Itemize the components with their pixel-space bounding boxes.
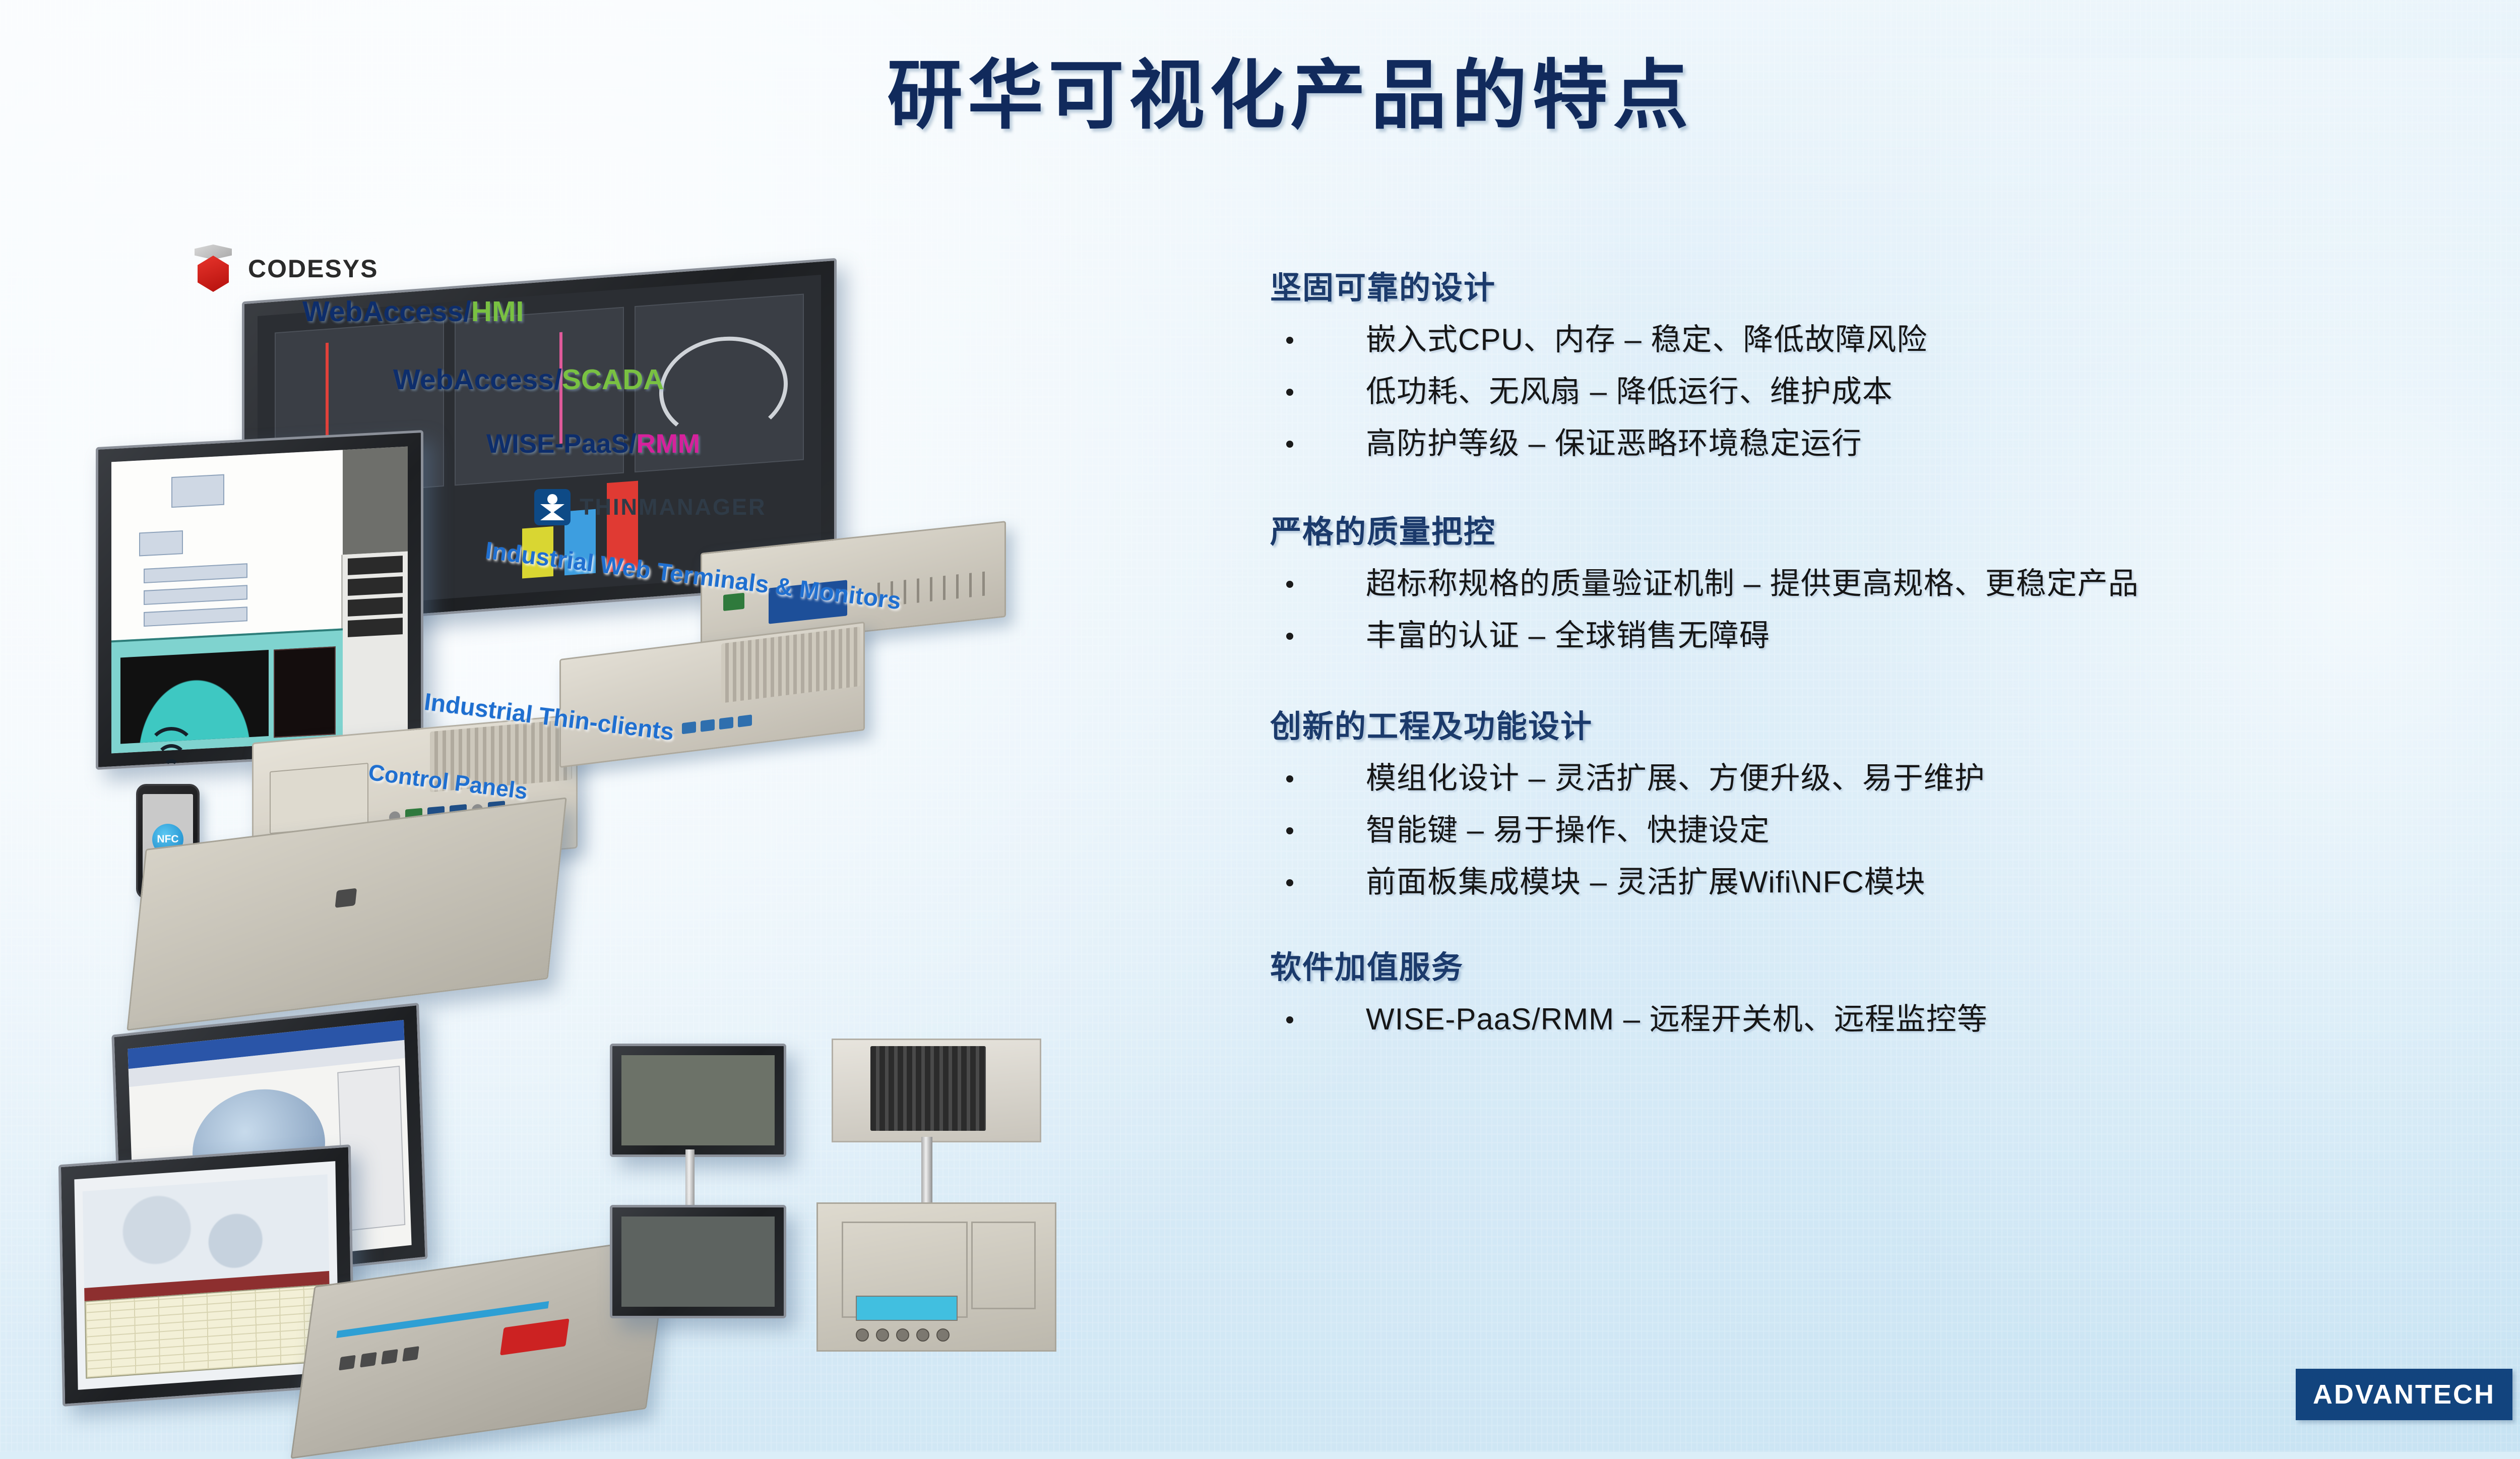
bullet-dot-icon (1286, 827, 1293, 834)
section-software-value-added: 软件加值服务 WISE-PaaS/RMM – 远程开关机、远程监控等 (1270, 942, 2520, 1039)
bullet-dot-icon (1286, 389, 1293, 396)
webaccess-hmi-prefix: WebAccess/ (302, 295, 471, 328)
bullet-text: 前面板集成模块 – 灵活扩展Wifi\NFC模块 (1366, 863, 1926, 902)
web-terminal-front-image-2 (610, 1205, 786, 1318)
label-wise-paas-rmm: WISE-PaaS/RMM (486, 429, 700, 459)
io-ports (682, 715, 752, 735)
bullet-text: 丰富的认证 – 全球销售无障碍 (1366, 617, 1770, 655)
section-innovative-engineering: 创新的工程及功能设计 模组化设计 – 灵活扩展、方便升级、易于维护 智能键 – … (1270, 701, 2520, 901)
thin-client-fanless-image (559, 622, 865, 768)
bullet-text: 高防护等级 – 保证恶略环境稳定运行 (1366, 424, 1862, 463)
codesys-cube-icon (192, 245, 235, 293)
codesys-logo: CODESYS (192, 245, 379, 293)
webaccess-scada-prefix: WebAccess/ (393, 363, 562, 396)
bullet-text: WISE-PaaS/RMM – 远程开关机、远程监控等 (1366, 1000, 1988, 1039)
page-title: 研华可视化产品的特点 (0, 34, 2520, 144)
product-artwork: NFC (0, 166, 1174, 1386)
bullet-text: 超标称规格的质量验证机制 – 提供更高规格、更稳定产品 (1366, 565, 2139, 603)
list-item: 前面板集成模块 – 灵活扩展Wifi\NFC模块 (1270, 863, 2520, 902)
label-webaccess-scada: WebAccess/SCADA (393, 363, 664, 396)
section-rugged-design: 坚固可靠的设计 嵌入式CPU、内存 – 稳定、降低故障风险 低功耗、无风扇 – … (1270, 262, 2520, 463)
bullet-list: 嵌入式CPU、内存 – 稳定、降低故障风险 低功耗、无风扇 – 降低运行、维护成… (1270, 321, 2520, 463)
section-quality-control: 严格的质量把控 超标称规格的质量验证机制 – 提供更高规格、更稳定产品 丰富的认… (1270, 506, 2520, 655)
list-item: 模组化设计 – 灵活扩展、方便升级、易于维护 (1270, 759, 2520, 798)
thinmanager-logo: THINMANAGER (534, 489, 766, 525)
bullet-list: WISE-PaaS/RMM – 远程开关机、远程监控等 (1270, 1000, 2520, 1039)
power-module (500, 1318, 570, 1355)
terminal-screen (621, 1055, 775, 1145)
rear-heatsink (870, 1046, 986, 1131)
bullet-dot-icon (1286, 1016, 1293, 1023)
panel-pc-screen (111, 447, 408, 754)
advantech-logo: ADVANTECH (2296, 1369, 2512, 1420)
wifi-signal-icon (147, 741, 196, 776)
bullet-text: 低功耗、无风扇 – 降低运行、维护成本 (1366, 373, 1893, 411)
thinmanager-label: THINMANAGER (580, 494, 766, 520)
bullet-text: 嵌入式CPU、内存 – 稳定、降低故障风险 (1366, 321, 1927, 359)
list-item: 嵌入式CPU、内存 – 稳定、降低故障风险 (1270, 321, 2520, 359)
thinmanager-mark-icon (534, 489, 571, 525)
bullet-dot-icon (1286, 775, 1293, 782)
heatsink-fins (721, 627, 860, 703)
bullet-dot-icon (1286, 337, 1293, 344)
bullet-text: 模组化设计 – 灵活扩展、方便升级、易于维护 (1366, 759, 1985, 798)
feature-sections: 坚固可靠的设计 嵌入式CPU、内存 – 稳定、降低故障风险 低功耗、无风扇 – … (1270, 262, 2520, 1077)
back-plate-ports (856, 1328, 950, 1342)
wise-paas-prefix: WISE-PaaS/ (486, 429, 636, 459)
wise-paas-suffix: RMM (636, 429, 700, 459)
section-heading: 坚固可靠的设计 (1270, 262, 2520, 308)
bullet-dot-icon (1286, 879, 1293, 886)
back-plate-connector (856, 1296, 957, 1321)
bullet-dot-icon (1286, 581, 1293, 588)
section-heading: 严格的质量把控 (1270, 506, 2520, 552)
panel-pc-image (96, 430, 423, 770)
bullet-list: 超标称规格的质量验证机制 – 提供更高规格、更稳定产品 丰富的认证 – 全球销售… (1270, 565, 2520, 655)
back-plate-cutout-2 (971, 1222, 1036, 1309)
web-terminal-front-image (610, 1044, 786, 1157)
label-webaccess-hmi: WebAccess/HMI (302, 295, 524, 328)
webaccess-scada-suffix: SCADA (562, 363, 664, 396)
list-item: 丰富的认证 – 全球销售无障碍 (1270, 617, 2520, 655)
list-item: 高防护等级 – 保证恶略环境稳定运行 (1270, 424, 2520, 463)
list-item: WISE-PaaS/RMM – 远程开关机、远程监控等 (1270, 1000, 2520, 1039)
bullet-list: 模组化设计 – 灵活扩展、方便升级、易于维护 智能键 – 易于操作、快捷设定 前… (1270, 759, 2520, 901)
bullet-dot-icon (1286, 633, 1293, 640)
hmi-trend-chart (111, 629, 343, 754)
rear-io-ports (339, 1346, 419, 1370)
hmi-diagram (111, 450, 343, 642)
scada-screen (74, 1161, 339, 1390)
bullet-text: 智能键 – 易于操作、快捷设定 (1366, 811, 1770, 850)
bullet-dot-icon (1286, 441, 1293, 448)
data-table (84, 1284, 333, 1379)
panel-knob (335, 888, 357, 908)
section-heading: 创新的工程及功能设计 (1270, 701, 2520, 746)
section-heading: 软件加值服务 (1270, 942, 2520, 987)
advantech-logo-text: ADVANTECH (2313, 1379, 2495, 1410)
list-item: 低功耗、无风扇 – 降低运行、维护成本 (1270, 373, 2520, 411)
list-item: 智能键 – 易于操作、快捷设定 (1270, 811, 2520, 850)
hmi-side-panel (341, 552, 408, 742)
camera-view (343, 447, 408, 555)
terminal-screen-2 (621, 1217, 775, 1307)
terminal-back-plate-image (816, 1202, 1056, 1352)
webaccess-hmi-suffix: HMI (471, 295, 524, 328)
list-item: 超标称规格的质量验证机制 – 提供更高规格、更稳定产品 (1270, 565, 2520, 603)
codesys-label: CODESYS (248, 254, 379, 283)
terminal-rear-mount-image (832, 1039, 1041, 1142)
